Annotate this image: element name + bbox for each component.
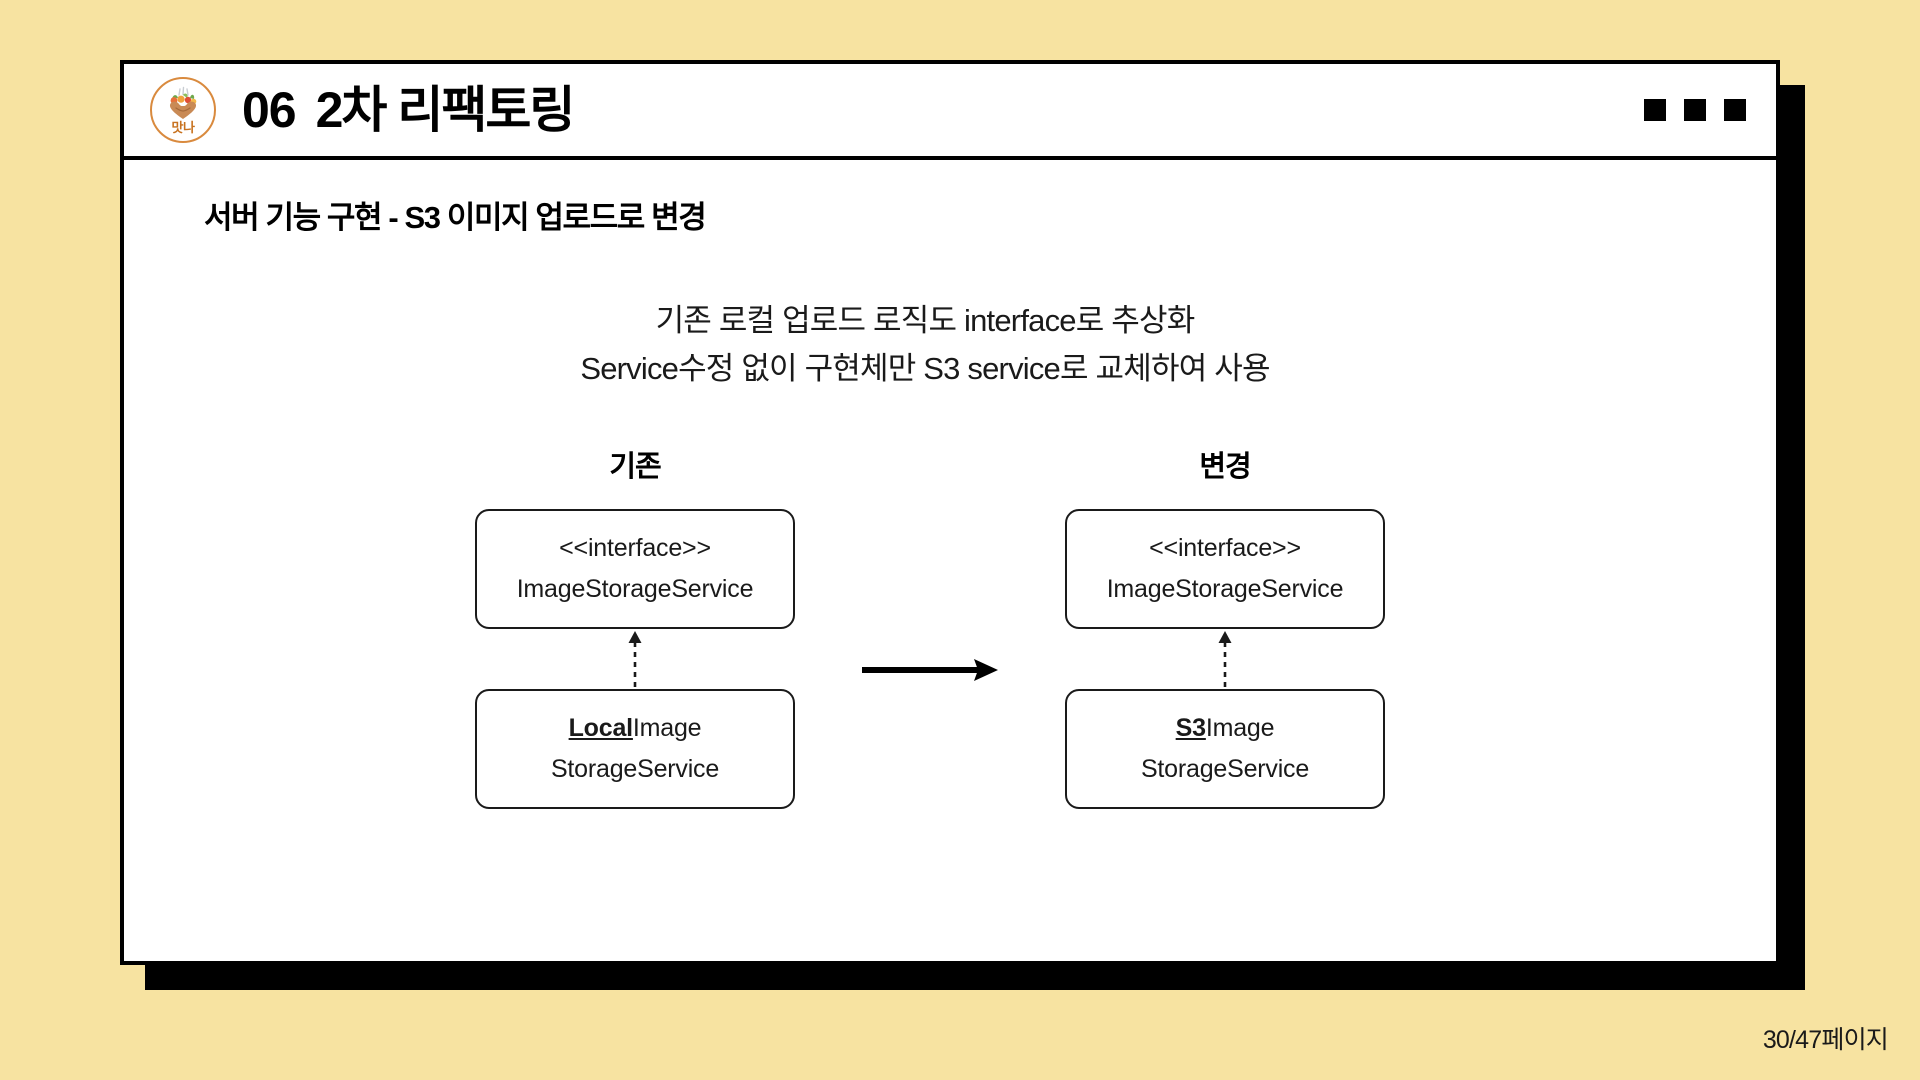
realization-connector-after	[1210, 629, 1240, 689]
page-title: 2차 리팩토링	[316, 85, 574, 135]
section-number: 06	[242, 85, 296, 135]
brand-logo-label: 맛나	[172, 121, 195, 134]
slide-body: 서버 기능 구현 - S3 이미지 업로드로 변경 기존 로컬 업로드 로직도 …	[124, 160, 1776, 961]
section-subtitle: 서버 기능 구현 - S3 이미지 업로드로 변경	[204, 192, 1736, 237]
interface-stereotype: <<interface>>	[1149, 536, 1301, 561]
description-block: 기존 로컬 업로드 로직도 interface로 추상화 Service수정 없…	[184, 297, 1736, 393]
implementation-name-rest: Image	[633, 714, 701, 742]
square-dot-icon	[1684, 99, 1706, 121]
description-line-2: Service수정 없이 구현체만 S3 service로 교체하여 사용	[184, 345, 1666, 393]
interface-box-after: <<interface>> ImageStorageService	[1065, 509, 1385, 629]
interface-name: ImageStorageService	[1107, 577, 1344, 602]
realization-connector-before	[620, 629, 650, 689]
implementation-name-line1: LocalImage	[569, 716, 702, 741]
implementation-box-before: LocalImage StorageService	[475, 689, 795, 809]
interface-box-before: <<interface>> ImageStorageService	[475, 509, 795, 629]
uml-diagram: 기존 <<interface>> ImageStorageService Loc…	[184, 443, 1736, 809]
implementation-emphasis: Local	[569, 714, 633, 742]
slide-header: 맛나 06 2차 리팩토링	[124, 64, 1776, 160]
description-line-1: 기존 로컬 업로드 로직도 interface로 추상화	[184, 297, 1666, 345]
implementation-name-line2: StorageService	[551, 757, 719, 782]
square-dot-icon	[1724, 99, 1746, 121]
implementation-name-line1: S3Image	[1176, 716, 1275, 741]
diagram-column-before: 기존 <<interface>> ImageStorageService Loc…	[425, 443, 845, 809]
column-heading-before: 기존	[609, 443, 660, 485]
page-indicator: 30/47페이지	[1763, 1020, 1888, 1056]
implementation-box-after: S3Image StorageService	[1065, 689, 1385, 809]
diagram-column-after: 변경 <<interface>> ImageStorageService S3I…	[1015, 443, 1435, 809]
food-heart-badge-icon: 맛나	[150, 77, 216, 143]
slide-card: 맛나 06 2차 리팩토링 서버 기능 구현 - S3 이미지 업로드로 변경 …	[120, 60, 1780, 965]
header-decoration-dots	[1644, 99, 1746, 121]
interface-name: ImageStorageService	[517, 577, 754, 602]
square-dot-icon	[1644, 99, 1666, 121]
implementation-name-line2: StorageService	[1141, 757, 1309, 782]
interface-stereotype: <<interface>>	[559, 536, 711, 561]
right-arrow-icon	[845, 443, 1015, 687]
implementation-emphasis: S3	[1176, 714, 1206, 742]
implementation-name-rest: Image	[1206, 714, 1274, 742]
column-heading-after: 변경	[1199, 443, 1250, 485]
